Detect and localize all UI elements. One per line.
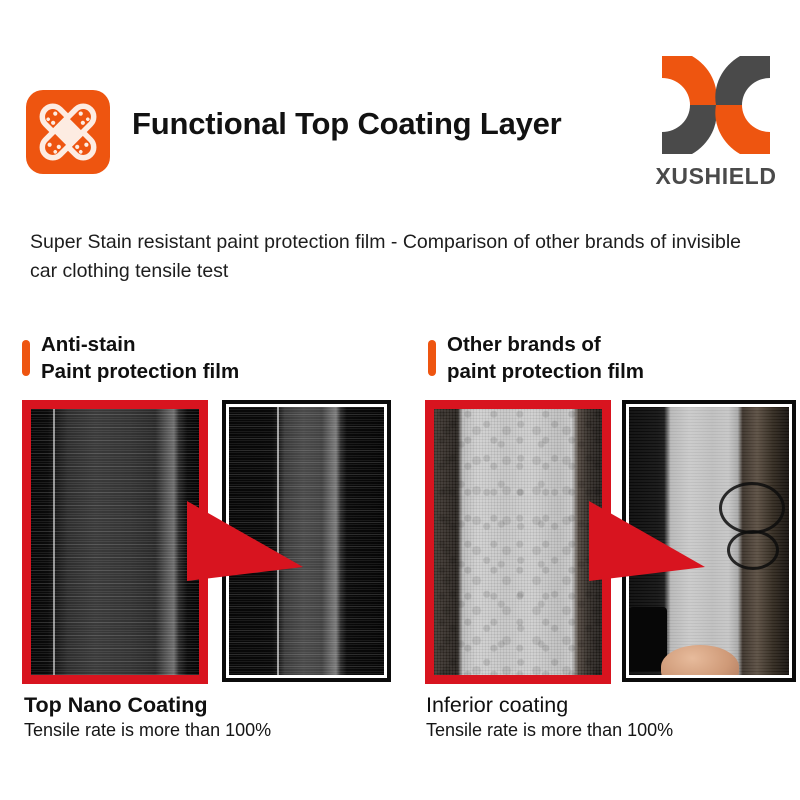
- caption-top-nano-coating: Top Nano Coating Tensile rate is more th…: [24, 692, 271, 742]
- section-marker-bar: [22, 340, 30, 376]
- page-title: Functional Top Coating Layer: [132, 106, 562, 142]
- bandage-cross-icon: [26, 90, 110, 174]
- section-label-anti-stain: Anti-stain Paint protection film: [22, 331, 239, 385]
- cable-shape: [727, 530, 779, 570]
- other-brand-film-closeup: [425, 400, 611, 684]
- photo-other-brand-wide: [629, 407, 789, 675]
- xushield-pinwheel-logo: [652, 48, 780, 162]
- section-label-line2: paint protection film: [447, 358, 644, 385]
- caption-subtitle: Tensile rate is more than 100%: [24, 718, 271, 742]
- caption-inferior-coating: Inferior coating Tensile rate is more th…: [426, 692, 673, 742]
- photo-other-brand-closeup: [434, 409, 602, 675]
- anti-stain-film-wide: [222, 400, 391, 682]
- subtitle: Super Stain resistant paint protection f…: [30, 228, 754, 286]
- brand-logo: XUSHIELD: [646, 48, 786, 190]
- section-label-line1: Anti-stain: [41, 331, 239, 358]
- hand-finger-shape: [661, 645, 739, 675]
- cable-shape: [719, 482, 785, 534]
- other-brand-film-wide: [622, 400, 796, 682]
- photo-anti-stain-wide: [229, 407, 384, 675]
- section-label-other-brands: Other brands of paint protection film: [428, 331, 644, 385]
- caption-title: Top Nano Coating: [24, 692, 271, 718]
- page-header: Functional Top Coating Layer XUSHIELD: [0, 0, 800, 205]
- photo-anti-stain-closeup: [31, 409, 199, 675]
- section-marker-bar: [428, 340, 436, 376]
- caption-title: Inferior coating: [426, 692, 673, 718]
- brand-logo-text: XUSHIELD: [646, 163, 786, 190]
- anti-stain-film-closeup: [22, 400, 208, 684]
- section-label-line2: Paint protection film: [41, 358, 239, 385]
- caption-subtitle: Tensile rate is more than 100%: [426, 718, 673, 742]
- section-label-line1: Other brands of: [447, 331, 644, 358]
